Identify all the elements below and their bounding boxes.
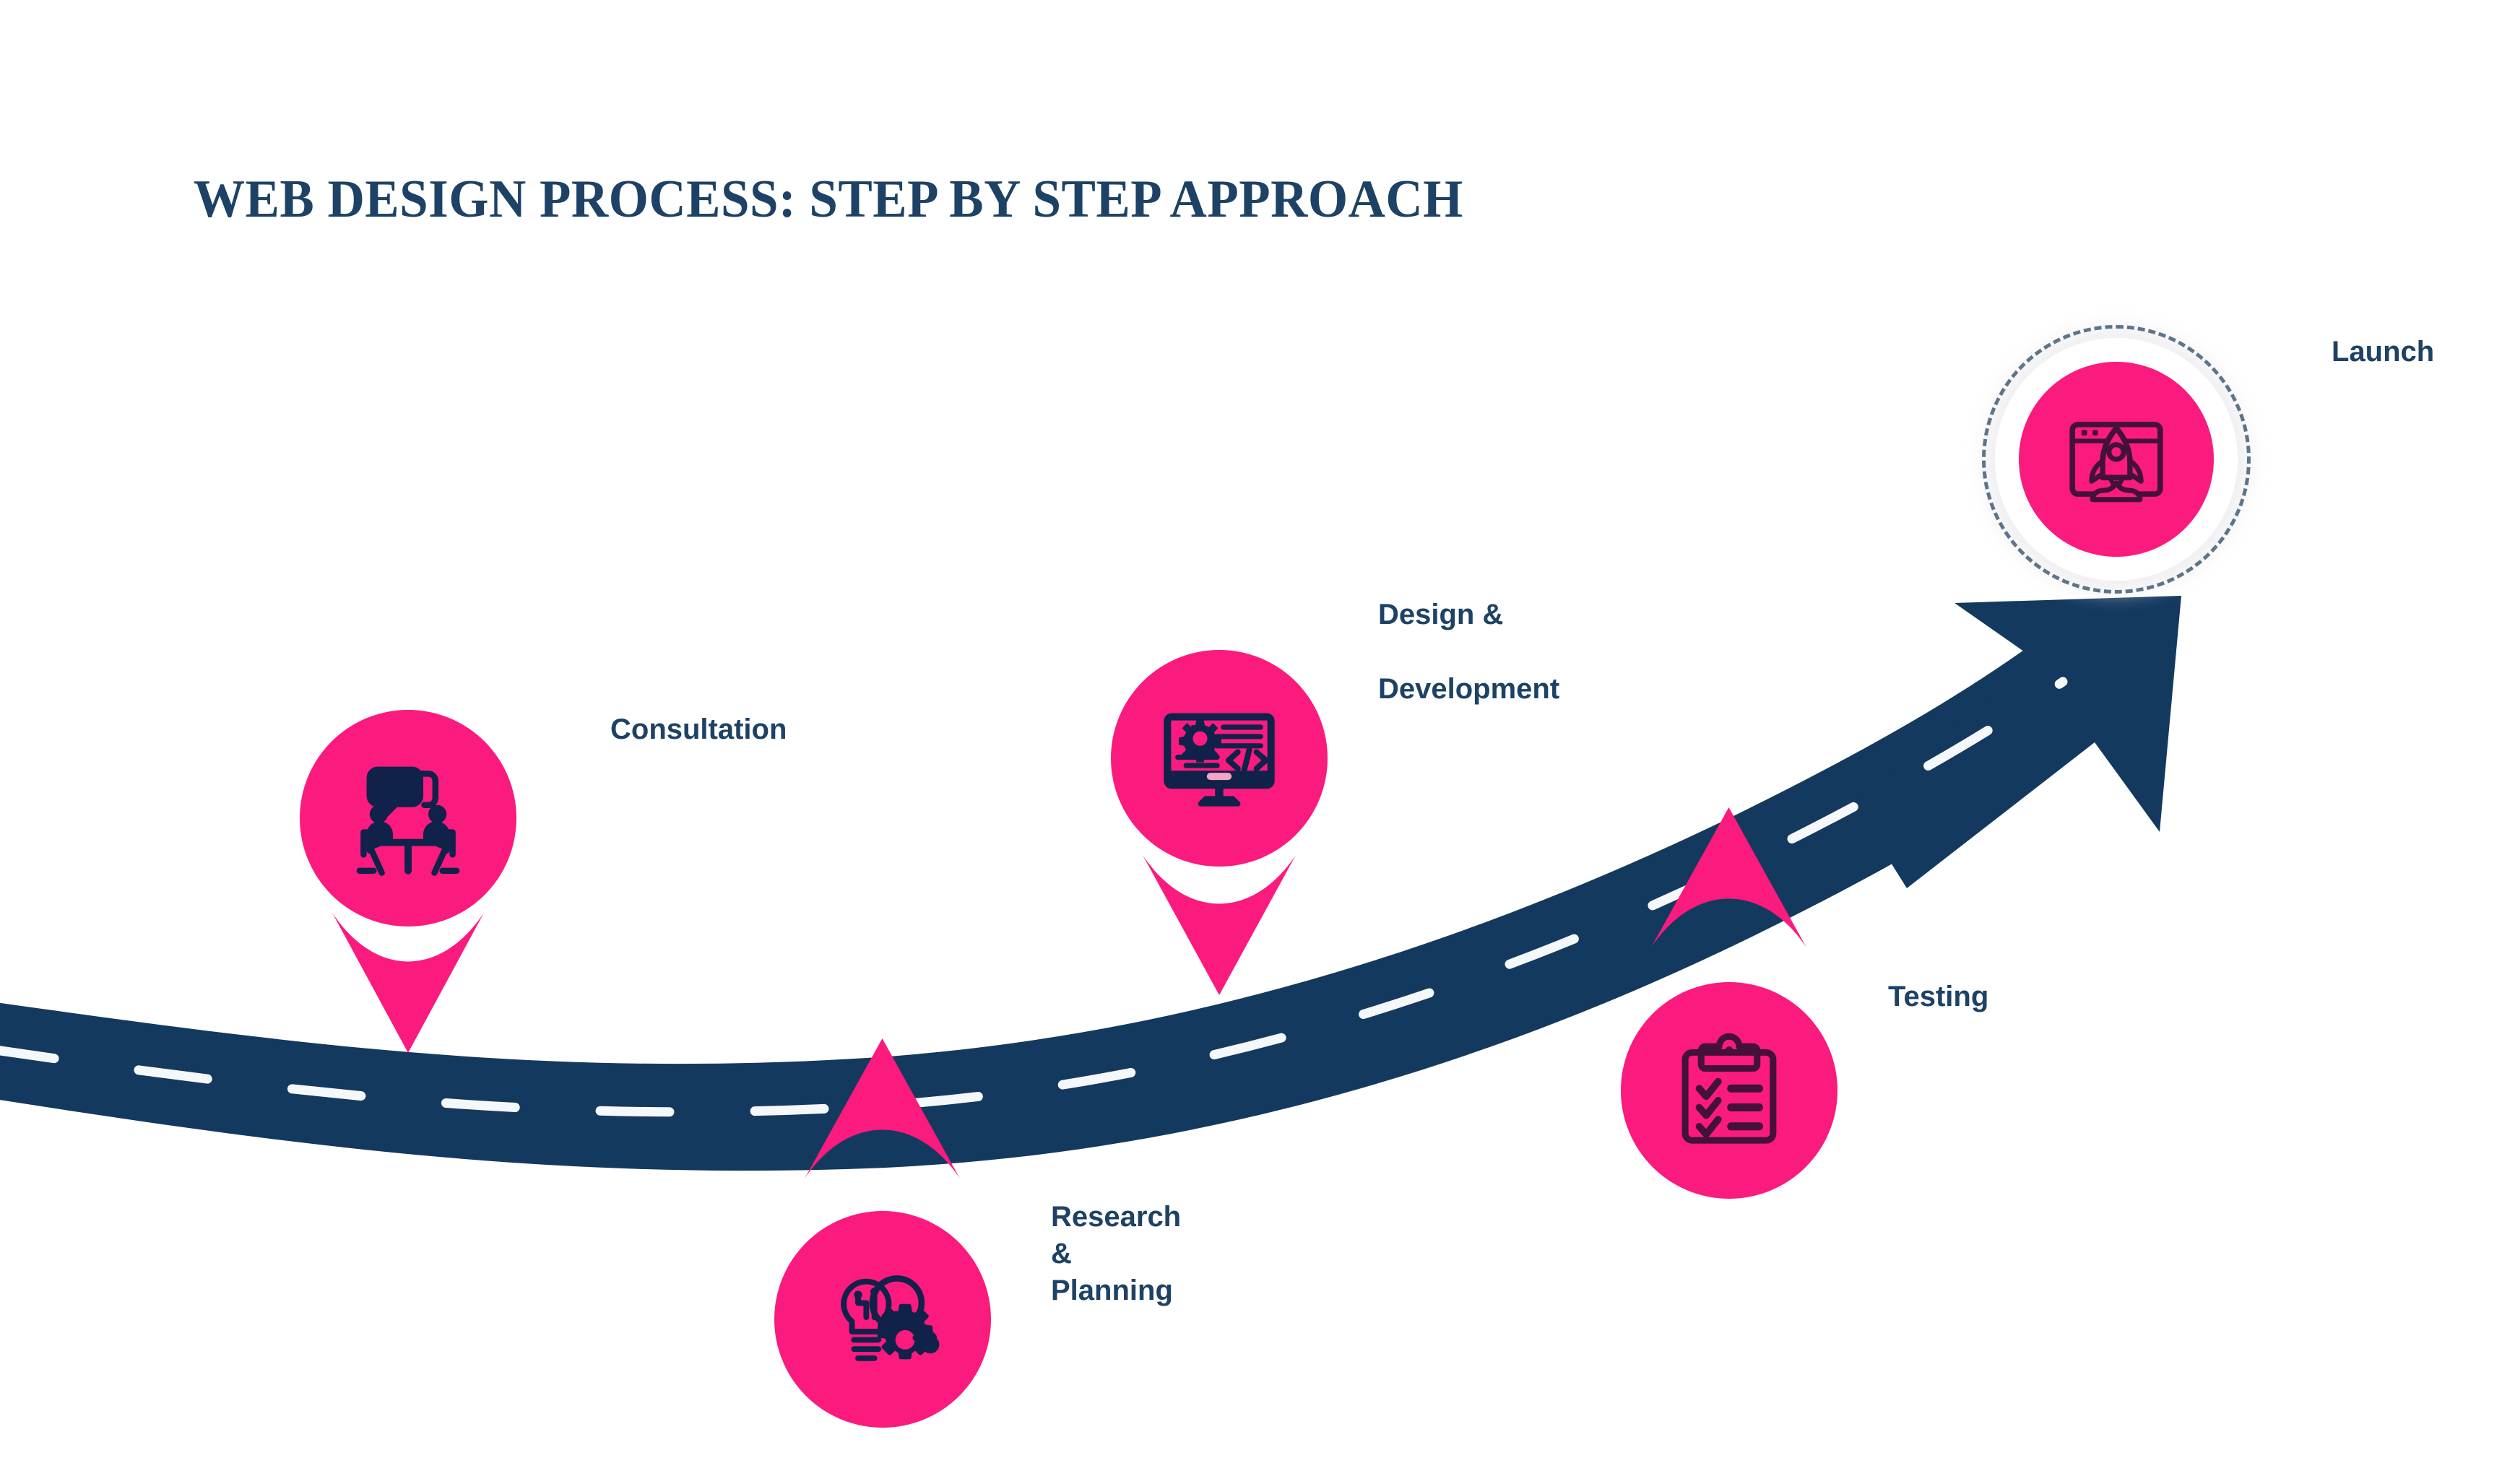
- step-label-design-development-line1: Design &: [1378, 599, 1503, 630]
- infographic-canvas: WEB DESIGN PROCESS: STEP BY STEP APPROAC…: [0, 0, 2502, 1484]
- pointer-up-icon: [1651, 807, 1806, 952]
- step-icon-circle-research[interactable]: [774, 1211, 991, 1428]
- step-icon-circle-testing[interactable]: [1621, 982, 1837, 1199]
- step-label-design-development: Design & Development: [1378, 560, 1559, 708]
- pointer-down-icon: [332, 908, 484, 1053]
- step-label-testing: Testing: [1888, 979, 1988, 1015]
- rocket-browser-launch-icon: [2061, 404, 2171, 514]
- step-label-research-planning: Research & Planning: [1051, 1199, 1181, 1310]
- step-label-consultation: Consultation: [610, 711, 787, 748]
- monitor-code-gear-icon: [1157, 696, 1281, 820]
- step-label-launch: Launch: [2332, 334, 2434, 370]
- step-icon-circle-design-development[interactable]: [1111, 650, 1328, 867]
- pointer-up-icon: [805, 1038, 960, 1183]
- step-icon-circle-consultation[interactable]: [300, 710, 516, 927]
- step-label-design-development-line2: Development: [1378, 673, 1559, 705]
- consultation-meeting-icon: [347, 758, 469, 879]
- pointer-down-icon: [1143, 851, 1296, 995]
- research-lightbulb-magnifier-icon: [821, 1258, 944, 1381]
- step-icon-circle-launch[interactable]: [2019, 362, 2214, 557]
- clipboard-checklist-icon: [1669, 1030, 1789, 1150]
